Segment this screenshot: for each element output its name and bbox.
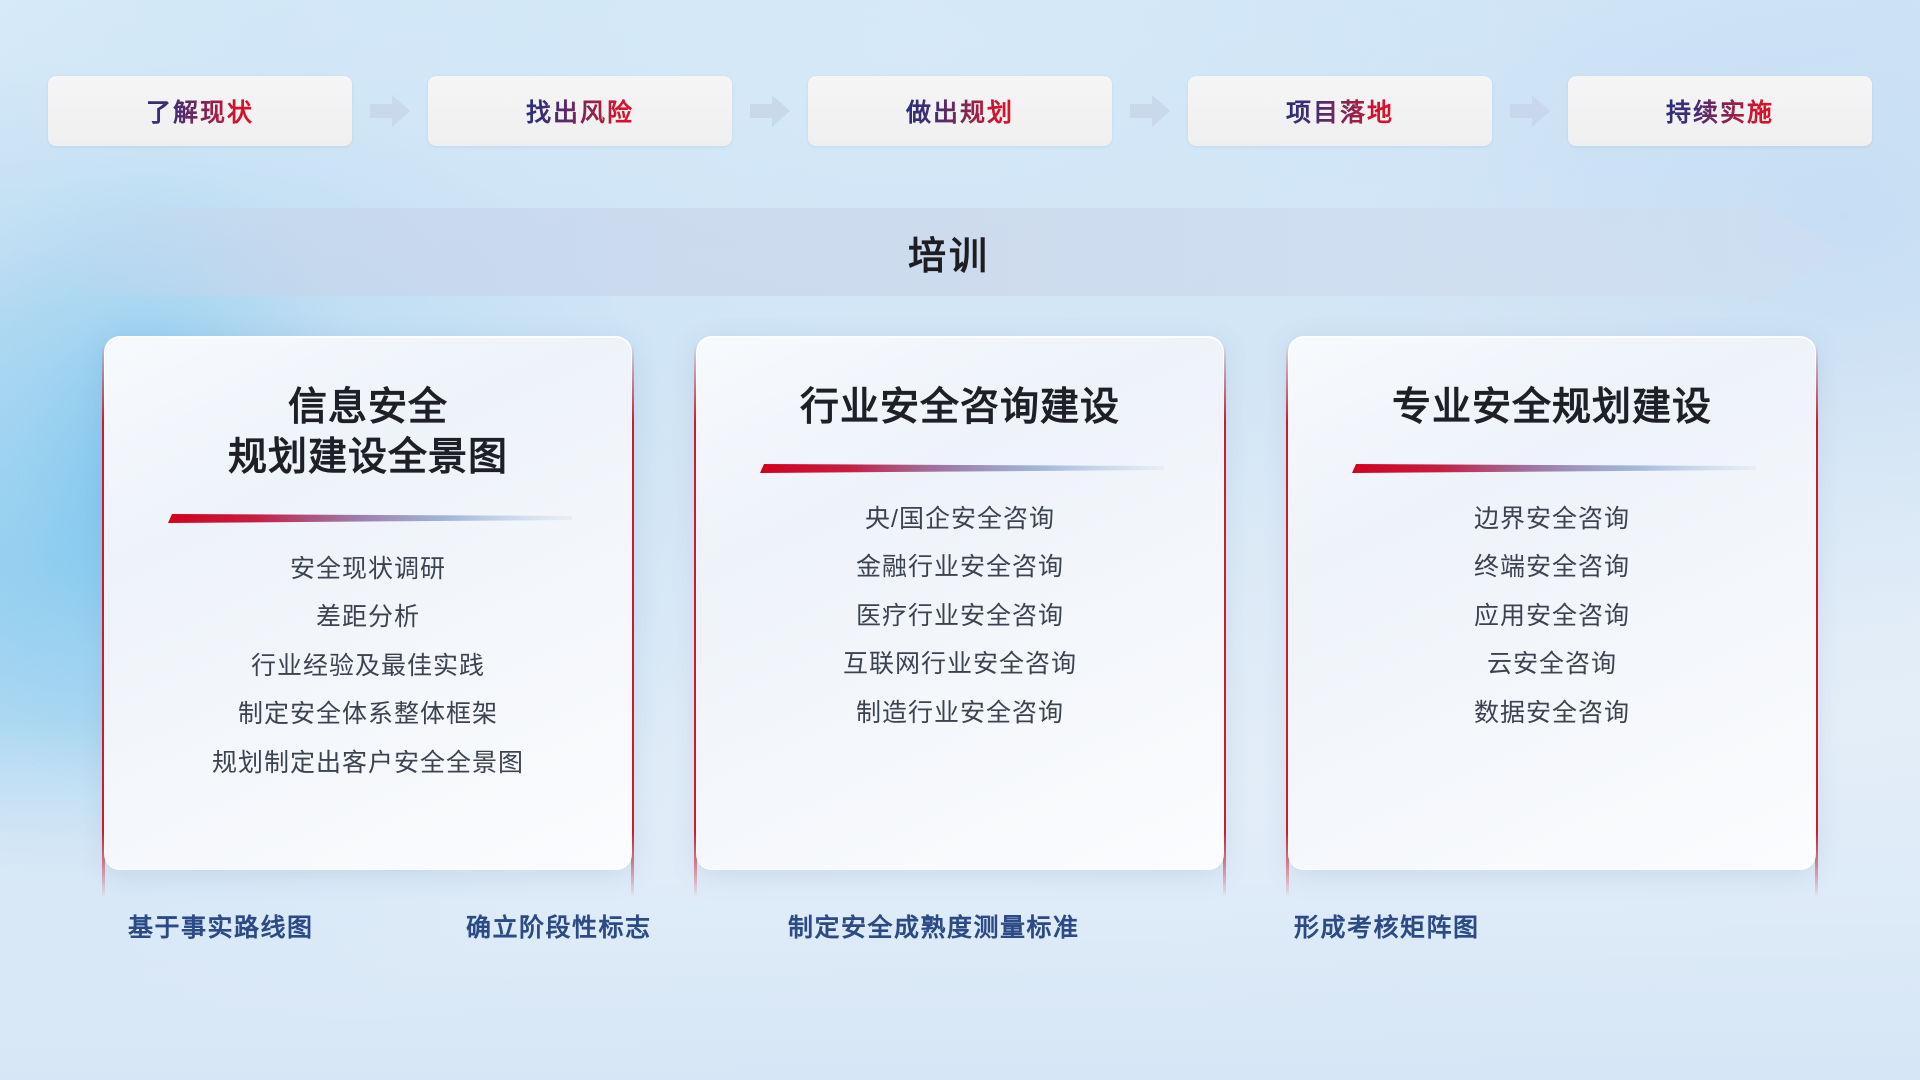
card-divider-3 xyxy=(1348,461,1756,477)
step-box-1[interactable]: 了解现状 xyxy=(48,76,352,146)
list-item: 央/国企安全咨询 xyxy=(865,503,1055,536)
list-item: 规划制定出客户安全全景图 xyxy=(212,747,524,780)
card-divider-1 xyxy=(164,511,572,527)
list-item: 云安全咨询 xyxy=(1487,648,1617,681)
list-item: 应用安全咨询 xyxy=(1474,600,1630,633)
process-steps-row: 了解现状找出风险做出规划项目落地持续实施 xyxy=(0,76,1920,146)
card-title-1-line1: 信息安全 xyxy=(228,383,508,433)
card-title-1: 信息安全 规划建设全景图 xyxy=(228,383,508,483)
cards-row: 信息安全 规划建设全景图 xyxy=(104,336,1816,870)
step-label-4: 项目落地 xyxy=(1286,93,1394,129)
card-wrapper-3: 专业安全规划建设 边界安全咨询终端安全咨询 xyxy=(1288,336,1816,870)
card-list-1: 安全现状调研差距分析行业经验及最佳实践制定安全体系整体框架规划制定出客户安全全景… xyxy=(139,553,597,780)
card-information-security-panorama[interactable]: 信息安全 规划建设全景图 xyxy=(104,336,632,870)
list-item: 安全现状调研 xyxy=(290,553,446,586)
step-box-3[interactable]: 做出规划 xyxy=(808,76,1112,146)
card-divider-2 xyxy=(756,461,1164,477)
list-item: 差距分析 xyxy=(316,601,420,634)
card-title-1-line2: 规划建设全景图 xyxy=(228,433,508,483)
step-label-5: 持续实施 xyxy=(1666,93,1774,129)
card-title-2: 行业安全咨询建设 xyxy=(800,383,1120,433)
step-label-2: 找出风险 xyxy=(526,93,634,129)
list-item: 边界安全咨询 xyxy=(1474,503,1630,536)
step-box-5[interactable]: 持续实施 xyxy=(1568,76,1872,146)
card-title-2-line1: 行业安全咨询建设 xyxy=(800,383,1120,433)
arrow-right-icon xyxy=(1112,76,1188,146)
step-label-1: 了解现状 xyxy=(146,93,254,129)
arrow-right-icon xyxy=(1492,76,1568,146)
list-item: 互联网行业安全咨询 xyxy=(843,648,1077,681)
bottom-caption-4: 形成考核矩阵图 xyxy=(1294,908,1480,944)
arrow-right-icon xyxy=(732,76,808,146)
step-box-2[interactable]: 找出风险 xyxy=(428,76,732,146)
list-item: 制造行业安全咨询 xyxy=(856,697,1064,730)
list-item: 金融行业安全咨询 xyxy=(856,551,1064,584)
card-title-3-line1: 专业安全规划建设 xyxy=(1392,383,1712,433)
training-banner-label: 培训 xyxy=(0,198,1920,306)
bottom-caption-2: 确立阶段性标志 xyxy=(466,908,652,944)
card-title-3: 专业安全规划建设 xyxy=(1392,383,1712,433)
list-item: 终端安全咨询 xyxy=(1474,551,1630,584)
list-item: 医疗行业安全咨询 xyxy=(856,600,1064,633)
list-item: 行业经验及最佳实践 xyxy=(251,650,485,683)
arrow-right-icon xyxy=(352,76,428,146)
card-professional-security-planning[interactable]: 专业安全规划建设 边界安全咨询终端安全咨询 xyxy=(1288,336,1816,870)
list-item: 数据安全咨询 xyxy=(1474,697,1630,730)
bottom-captions-row: 基于事实路线图确立阶段性标志制定安全成熟度测量标准形成考核矩阵图 xyxy=(0,908,1920,962)
bottom-caption-1: 基于事实路线图 xyxy=(128,908,314,944)
step-label-3: 做出规划 xyxy=(906,93,1014,129)
list-item: 制定安全体系整体框架 xyxy=(238,698,498,731)
bottom-caption-3: 制定安全成熟度测量标准 xyxy=(788,908,1080,944)
card-wrapper-1: 信息安全 规划建设全景图 xyxy=(104,336,632,870)
step-box-4[interactable]: 项目落地 xyxy=(1188,76,1492,146)
card-list-3: 边界安全咨询终端安全咨询应用安全咨询云安全咨询数据安全咨询 xyxy=(1323,503,1781,730)
card-wrapper-2: 行业安全咨询建设 央/国企安全咨询金融行业 xyxy=(696,336,1224,870)
card-industry-security-consulting[interactable]: 行业安全咨询建设 央/国企安全咨询金融行业 xyxy=(696,336,1224,870)
card-list-2: 央/国企安全咨询金融行业安全咨询医疗行业安全咨询互联网行业安全咨询制造行业安全咨… xyxy=(731,503,1189,730)
